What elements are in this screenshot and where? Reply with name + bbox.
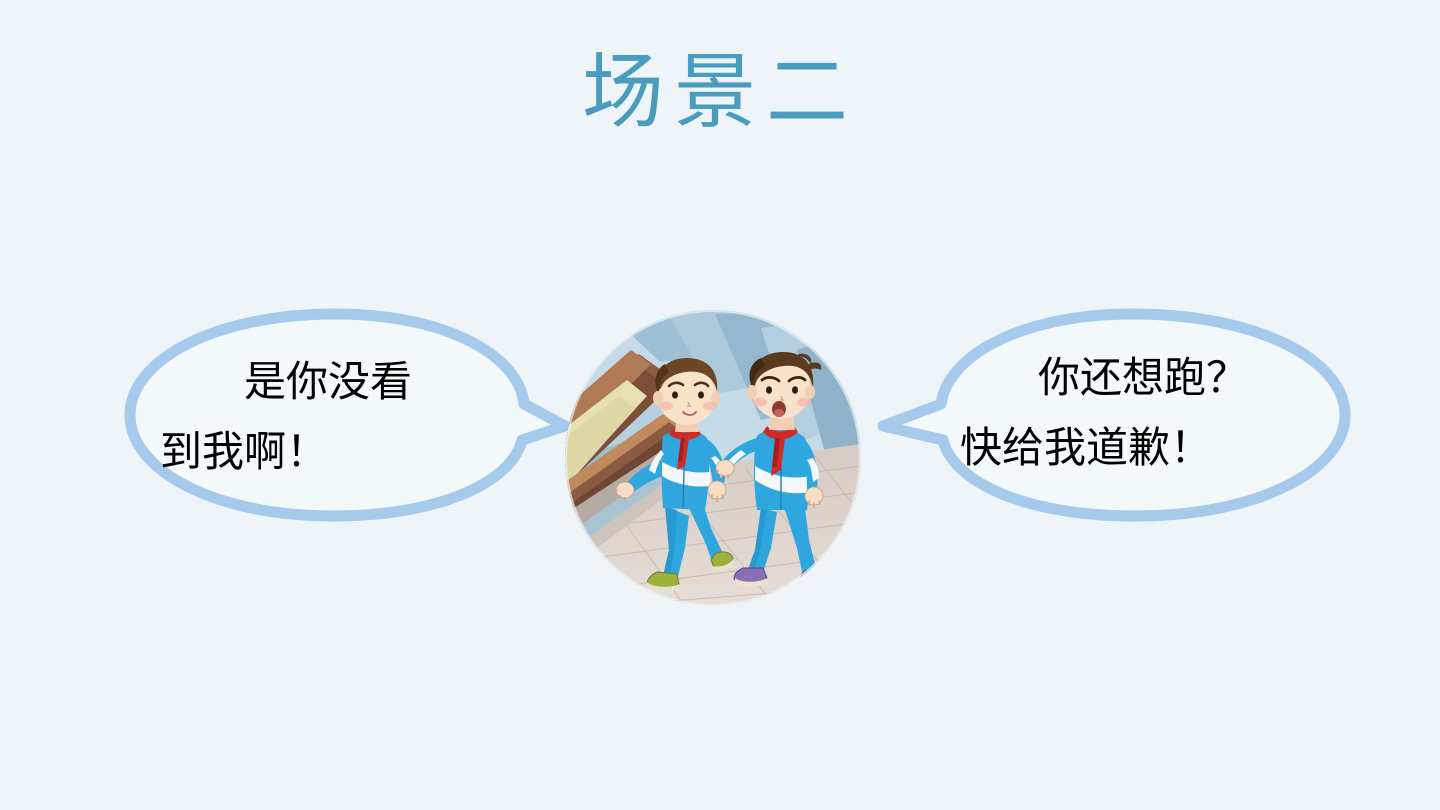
scene-illustration-art <box>565 310 861 606</box>
bubble-right-line-2: 快给我道歉！ <box>960 414 1340 484</box>
speech-bubble-left-text: 是你没看 到我啊！ <box>160 348 530 488</box>
speech-bubble-right-text: 你还想跑？ 快给我道歉！ <box>960 344 1340 484</box>
slide-root: 场景二 是你没看 到我啊！ 你还想跑？ 快给我道歉！ <box>0 0 1440 810</box>
bubble-left-line-2: 到我啊！ <box>160 418 530 488</box>
speech-bubble-right[interactable]: 你还想跑？ 快给我道歉！ <box>875 300 1355 530</box>
scene-illustration <box>565 310 861 606</box>
bubble-right-line-1: 你还想跑？ <box>960 344 1340 414</box>
page-title: 场景二 <box>0 50 1440 136</box>
speech-bubble-left[interactable]: 是你没看 到我啊！ <box>120 300 570 530</box>
bubble-left-line-1: 是你没看 <box>160 348 530 418</box>
